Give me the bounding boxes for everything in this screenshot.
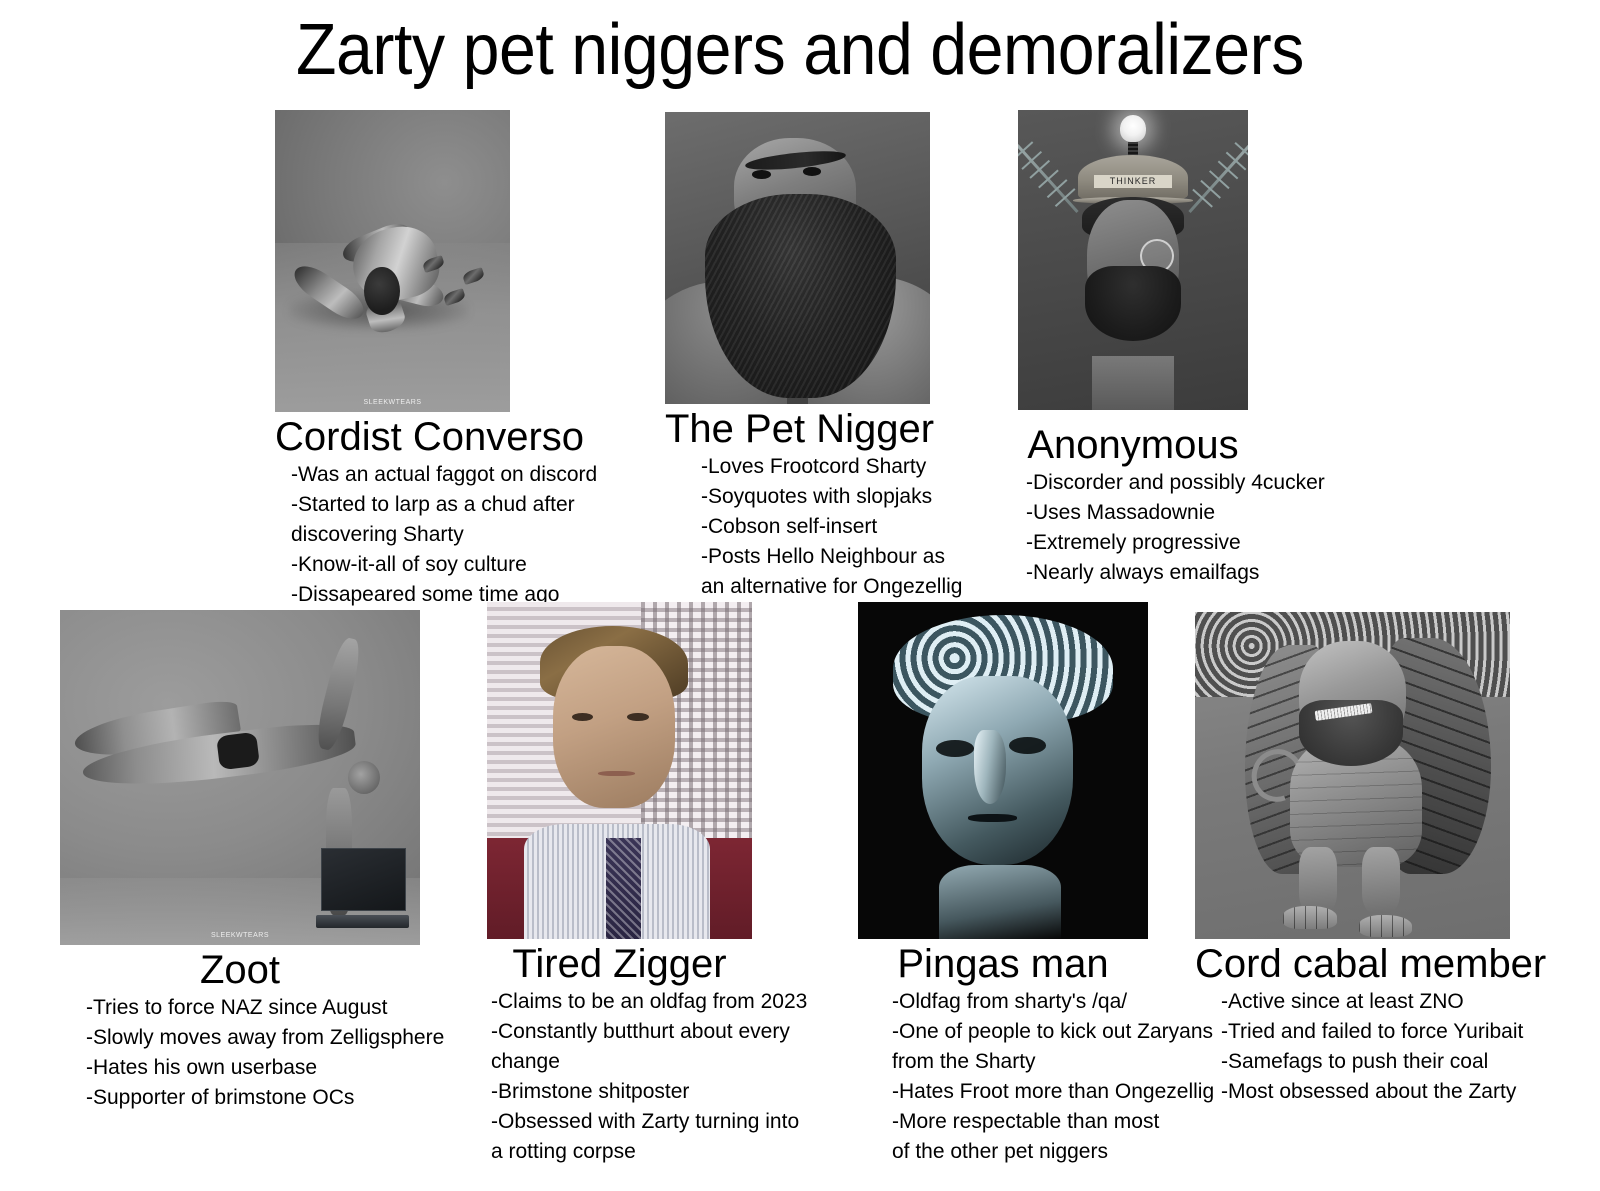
card-bullets-pingas-man: -Oldfag from sharty's /qa/ -One of peopl… [858, 987, 1148, 1167]
bullet-line: -Active since at least ZNO [1221, 987, 1510, 1017]
bullet-line: -Hates his own userbase [86, 1053, 420, 1083]
card-title-tired-zigger: Tired Zigger [487, 941, 752, 987]
crouching-figure-photo: SLEEKWTEARS [275, 110, 510, 412]
photo-leg-right [1362, 847, 1400, 912]
bullet-line: -Loves Frootcord Sharty [701, 452, 930, 482]
photo-antenna-right [1188, 144, 1248, 213]
bullet-line: -Brimstone shitposter [491, 1077, 752, 1107]
photo-mouth [598, 771, 635, 776]
bullet-line: -Was an actual faggot on discord [291, 460, 510, 490]
card-bullets-cordist-converso: -Was an actual faggot on discord -Starte… [275, 460, 510, 610]
thinker-cap-man-photo: THINKER [1018, 110, 1248, 410]
photo-neck [1092, 356, 1175, 410]
bullet-line: change [491, 1047, 752, 1077]
photo-beard [705, 194, 896, 398]
photo-leg-left [1299, 847, 1337, 912]
photo-laptop-screen [321, 848, 405, 911]
bullet-line: -Extremely progressive [1026, 528, 1248, 558]
photo-antenna-left [1018, 144, 1078, 213]
photo-eye-right [1009, 737, 1047, 754]
photo-beard [1085, 266, 1182, 341]
winged-gargoyle-photo [1195, 612, 1510, 939]
bearded-man-photo [665, 112, 930, 404]
bullet-line: -Tries to force NAZ since August [86, 993, 420, 1023]
photo-head [364, 267, 399, 315]
photo-neck [939, 865, 1061, 939]
bullet-line: -Soyquotes with slopjaks [701, 482, 930, 512]
photo-cap-label: THINKER [1094, 175, 1172, 189]
bullet-line: -Samefags to push their coal [1221, 1047, 1510, 1077]
photo-head [348, 761, 380, 795]
card-bullets-anonymous: -Discorder and possibly 4cucker -Uses Ma… [1018, 468, 1248, 588]
photo-watermark: SLEEKWTEARS [275, 399, 510, 406]
card-cord-cabal-member: Cord cabal member -Active since at least… [1195, 612, 1510, 1107]
bullet-line: an alternative for Ongezellig [701, 572, 930, 602]
bullet-line: -Posts Hello Neighbour as [701, 542, 930, 572]
card-bullets-zoot: -Tries to force NAZ since August -Slowly… [60, 993, 420, 1113]
marble-bust-photo [858, 602, 1148, 939]
bullet-line: -Dissapeared some time ago [291, 580, 510, 610]
card-title-anonymous: Anonymous [1018, 422, 1248, 468]
bullet-line: -Most obsessed about the Zarty [1221, 1077, 1510, 1107]
bullet-line: of the other pet niggers [892, 1137, 1148, 1167]
card-title-pingas-man: Pingas man [858, 941, 1148, 987]
card-zoot: SLEEKWTEARS Zoot -Tries to force NAZ sin… [60, 610, 420, 1113]
bullet-line: -Oldfag from sharty's /qa/ [892, 987, 1148, 1017]
card-the-pet-nigger: The Pet Nigger -Loves Frootcord Sharty -… [665, 112, 930, 602]
bullet-line: -Supporter of brimstone OCs [86, 1083, 420, 1113]
bullet-line: -Tried and failed to force Yuribait [1221, 1017, 1510, 1047]
bullet-line: -Discorder and possibly 4cucker [1026, 468, 1248, 498]
bullet-line: -Hates Froot more than Ongezellig [892, 1077, 1148, 1107]
photo-foot-left [1283, 906, 1337, 929]
bullet-line: -Know-it-all of soy culture [291, 550, 510, 580]
card-bullets-cord-cabal-member: -Active since at least ZNO -Tried and fa… [1195, 987, 1510, 1107]
bullet-line: -Uses Massadownie [1026, 498, 1248, 528]
bullet-line: from the Sharty [892, 1047, 1148, 1077]
bullet-line: -Obsessed with Zarty turning into [491, 1107, 752, 1137]
bullet-line: -One of people to kick out Zaryans [892, 1017, 1148, 1047]
bullet-line: -More respectable than most [892, 1107, 1148, 1137]
card-tired-zigger: Tired Zigger -Claims to be an oldfag fro… [487, 602, 752, 1167]
card-title-zoot: Zoot [60, 947, 420, 993]
bullet-line: -Slowly moves away from Zelligsphere [86, 1023, 420, 1053]
bullet-line: -Started to larp as a chud after [291, 490, 510, 520]
card-bullets-tired-zigger: -Claims to be an oldfag from 2023 -Const… [487, 987, 752, 1167]
card-anonymous: THINKER Anonymous -Discorder and possibl… [1018, 110, 1248, 588]
photo-mouth [968, 814, 1017, 822]
photo-watermark: SLEEKWTEARS [60, 932, 420, 939]
planche-laptop-photo: SLEEKWTEARS [60, 610, 420, 945]
card-title-cordist-converso: Cordist Converso [275, 414, 510, 460]
photo-arm-up [313, 635, 365, 752]
photo-lightbulb [1120, 115, 1145, 142]
photo-tie [606, 838, 640, 939]
photo-trunks [216, 732, 259, 770]
photo-laptop [316, 848, 410, 928]
bullet-line: -Constantly butthurt about every [491, 1017, 752, 1047]
photo-face [553, 646, 675, 808]
suited-man-photo [487, 602, 752, 939]
photo-foot-right [1359, 915, 1413, 938]
photo-eye-left [936, 740, 974, 757]
bullet-line: a rotting corpse [491, 1137, 752, 1167]
bullet-line: -Nearly always emailfags [1026, 558, 1248, 588]
card-title-cord-cabal-member: Cord cabal member [1195, 941, 1510, 987]
card-title-the-pet-nigger: The Pet Nigger [665, 406, 930, 452]
bullet-line: -Claims to be an oldfag from 2023 [491, 987, 752, 1017]
card-pingas-man: Pingas man -Oldfag from sharty's /qa/ -O… [858, 602, 1148, 1167]
card-cordist-converso: SLEEKWTEARS Cordist Converso -Was an act… [275, 110, 510, 610]
photo-laptop-base [316, 915, 410, 928]
photo-nose [974, 730, 1006, 804]
card-bullets-the-pet-nigger: -Loves Frootcord Sharty -Soyquotes with … [665, 452, 930, 602]
page-title: Zarty pet niggers and demoralizers [64, 8, 1536, 92]
bullet-line: -Cobson self-insert [701, 512, 930, 542]
bullet-line: discovering Sharty [291, 520, 510, 550]
